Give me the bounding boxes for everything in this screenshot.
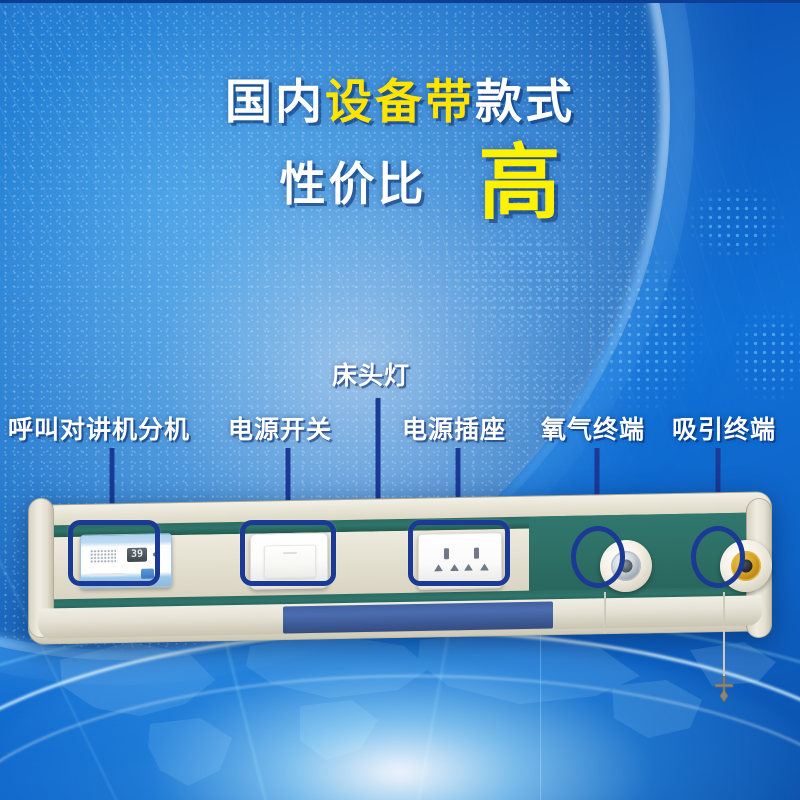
callout-label-power-switch: 电源开关 [228,418,332,443]
highlight-circle-oxygen [571,526,625,588]
promo-banner: 国内设备带款式 性价比 高 呼叫对讲机分机 电源开关 床头灯 电源插座 氧气终端… [0,0,800,800]
highlight-box-power-switch [240,520,336,586]
callout-label-suction: 吸引终端 [672,418,776,443]
highlight-box-intercom [68,520,160,586]
callout-label-power-socket: 电源插座 [402,418,506,443]
top-edge-bar [0,0,800,3]
callout-label-oxygen: 氧气终端 [541,418,645,443]
highlight-circle-suction [691,526,745,588]
halftone-dot-map-lower [350,330,650,490]
unit-rail-dark-insert [283,602,553,634]
oxygen-terminal-cord [604,592,606,634]
callout-label-bed-lamp: 床头灯 [332,364,410,389]
iv-hanger-hook-icon [713,676,735,702]
callout-label-intercom: 呼叫对讲机分机 [8,418,190,443]
highlight-box-power-socket [408,520,510,586]
